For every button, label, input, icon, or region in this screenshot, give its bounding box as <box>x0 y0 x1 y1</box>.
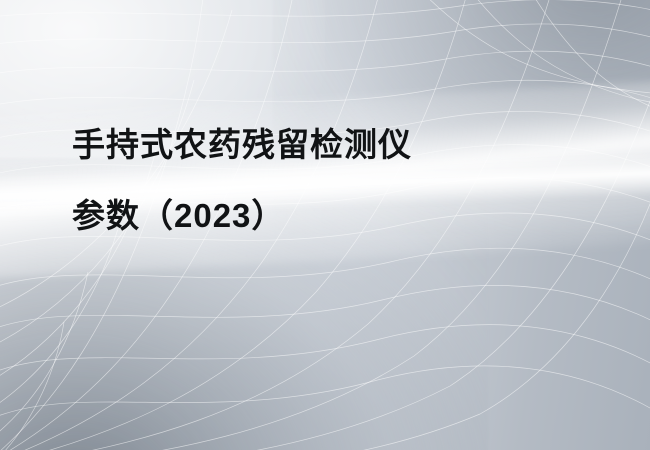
title-line-1: 手持式农药残留检测仪 <box>72 128 592 161</box>
title-line-2: 参数（2023） <box>72 199 592 232</box>
page-title: 手持式农药残留检测仪 参数（2023） <box>72 128 592 232</box>
title-graphic: 手持式农药残留检测仪 参数（2023） <box>0 0 650 450</box>
